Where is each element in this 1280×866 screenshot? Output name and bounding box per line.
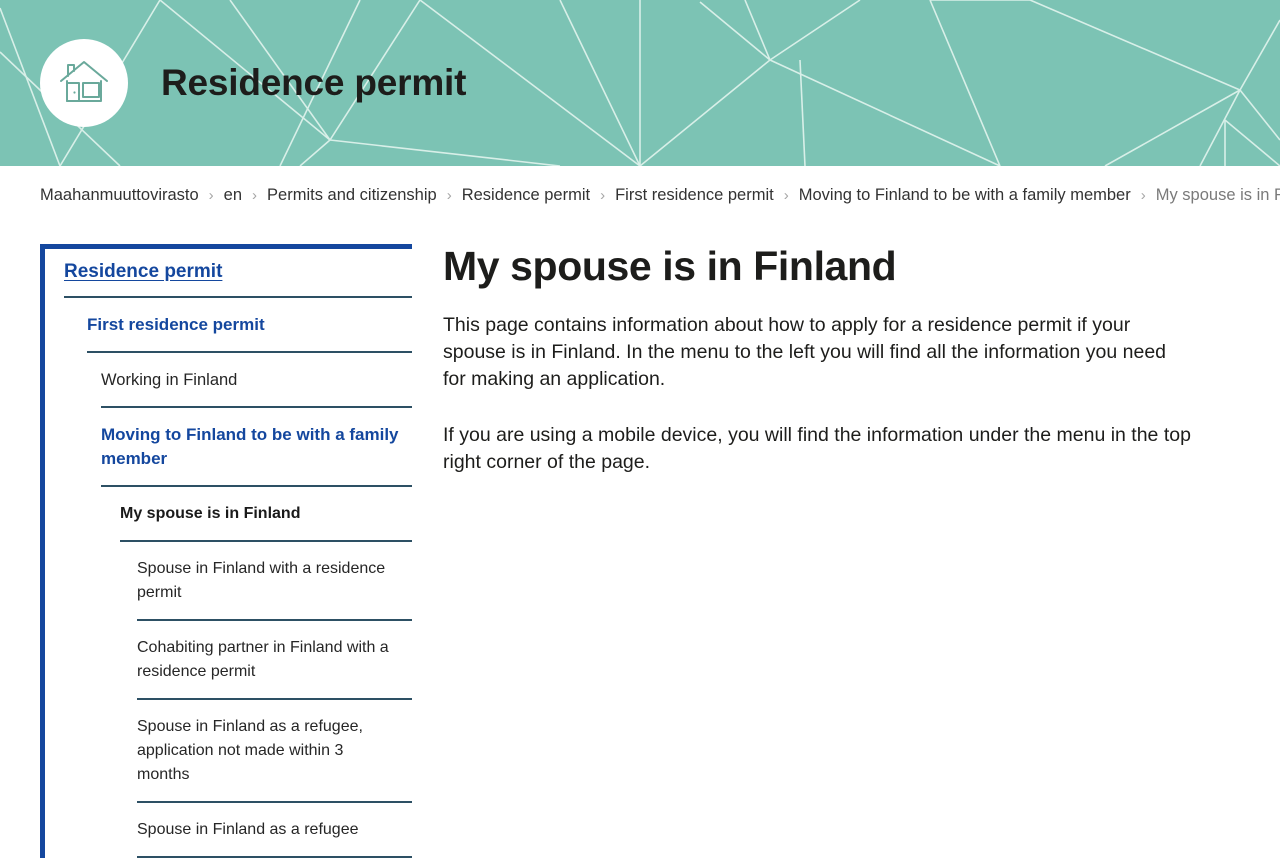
breadcrumb-item-2[interactable]: en	[224, 186, 242, 204]
sidebar-item-label: Moving to Finland to be with a family me…	[101, 408, 412, 485]
sidebar-item-working-in-finland[interactable]: Working in Finland	[101, 353, 412, 408]
breadcrumb-separator-icon: ›	[600, 187, 605, 204]
page-banner: Residence permit	[0, 0, 1280, 166]
intro-paragraph-2: If you are using a mobile device, you wi…	[443, 422, 1192, 476]
breadcrumb-item-3[interactable]: Permits and citizenship	[267, 186, 437, 204]
breadcrumb-item-5[interactable]: First residence permit	[615, 186, 774, 204]
breadcrumb-separator-icon: ›	[252, 187, 257, 204]
house-icon	[40, 39, 128, 127]
breadcrumb-separator-icon: ›	[1141, 187, 1146, 204]
breadcrumb-item-1[interactable]: Maahanmuuttovirasto	[40, 186, 199, 204]
sidebar-item-spouse-in-finland-with-a-residence-permit[interactable]: Spouse in Finland with a residence permi…	[137, 542, 412, 621]
breadcrumb-separator-icon: ›	[447, 187, 452, 204]
page-layout: Residence permitFirst residence permitWo…	[0, 244, 1280, 858]
sidebar-item-spouse-in-finland-as-a-refugee[interactable]: Spouse in Finland as a refugee	[137, 803, 412, 858]
sidebar-item-label: My spouse is in Finland	[120, 487, 412, 540]
banner-content: Residence permit	[0, 0, 1280, 166]
sidebar-item-label: Spouse in Finland as a refugee, applicat…	[137, 700, 412, 801]
sidebar-item-label: Spouse in Finland with a residence permi…	[137, 542, 412, 619]
sidebar-item-label: Spouse in Finland as a refugee	[137, 803, 412, 856]
breadcrumb-item-7: My spouse is in Finland	[1156, 186, 1280, 204]
sidebar-item-label: Working in Finland	[101, 353, 412, 406]
breadcrumb: Maahanmuuttovirasto›en›Permits and citiz…	[0, 166, 1000, 208]
sidebar-item-cohabiting-partner-in-finland-with-a-residence[interactable]: Cohabiting partner in Finland with a res…	[137, 621, 412, 700]
breadcrumb-separator-icon: ›	[784, 187, 789, 204]
sidebar-item-label: First residence permit	[87, 298, 412, 351]
sidebar-item-label: Residence permit	[64, 249, 412, 296]
sidebar-item-first-residence-permit[interactable]: First residence permit	[87, 298, 412, 353]
sidebar-item-moving-to-finland-to-be-with-a-family-member[interactable]: Moving to Finland to be with a family me…	[101, 408, 412, 487]
sidebar-item-label: Cohabiting partner in Finland with a res…	[137, 621, 412, 698]
intro-paragraph-1: This page contains information about how…	[443, 312, 1192, 393]
main-content: My spouse is in Finland This page contai…	[412, 244, 1212, 476]
banner-title: Residence permit	[161, 63, 466, 104]
sidebar-item-spouse-in-finland-as-a-refugee-application-not[interactable]: Spouse in Finland as a refugee, applicat…	[137, 700, 412, 803]
sidebar-item-my-spouse-is-in-finland: My spouse is in Finland	[120, 487, 412, 542]
sidebar-item-residence-permit[interactable]: Residence permit	[64, 249, 412, 298]
breadcrumb-item-4[interactable]: Residence permit	[462, 186, 590, 204]
breadcrumb-separator-icon: ›	[209, 187, 214, 204]
breadcrumb-item-6[interactable]: Moving to Finland to be with a family me…	[799, 186, 1131, 204]
page-title: My spouse is in Finland	[443, 244, 1192, 290]
sidebar-navigation: Residence permitFirst residence permitWo…	[40, 244, 412, 858]
